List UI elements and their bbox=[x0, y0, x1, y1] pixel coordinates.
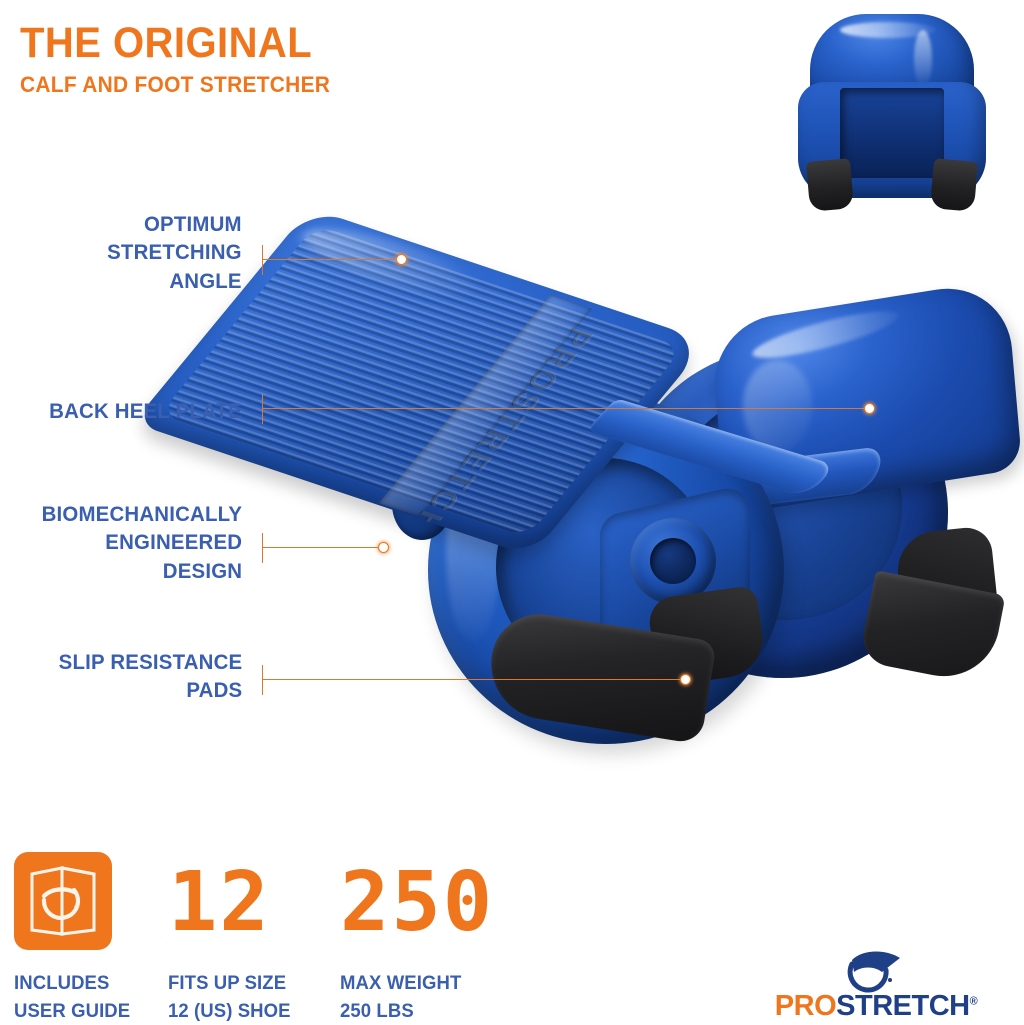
leader-line-optimum-stretching-angle bbox=[262, 259, 402, 260]
brand-logo: PROSTRETCH® bbox=[742, 946, 1010, 1020]
callout-dot-back-heel-plate bbox=[864, 403, 875, 414]
leader-line-biomechanically-engineered-design bbox=[262, 547, 384, 548]
product-main-view: PROSTRETCH bbox=[300, 200, 1000, 770]
stat-value-fits-up-size: 12 bbox=[168, 862, 271, 944]
leader-tick-slip-resistance-pads bbox=[262, 665, 263, 695]
inset-slip-pad-right bbox=[930, 158, 978, 212]
leader-tick-biomechanically-engineered-design bbox=[262, 533, 263, 563]
brand-wordmark: PROSTRETCH® bbox=[742, 990, 1010, 1023]
brand-word-pro: PRO bbox=[775, 990, 836, 1022]
callout-dot-biomechanically-engineered-design bbox=[378, 542, 389, 553]
heel-plate-highlight bbox=[750, 302, 901, 366]
stat-caption-includes-user-guide: INCLUDES USER GUIDE bbox=[14, 970, 130, 1025]
callout-dot-slip-resistance-pads bbox=[680, 674, 691, 685]
leader-tick-optimum-stretching-angle bbox=[262, 245, 263, 275]
callout-label-optimum-stretching-angle: OPTIMUM STRETCHING ANGLE bbox=[107, 210, 242, 295]
brand-word-stretch: STRETCH bbox=[836, 990, 969, 1022]
product-inset-rear-view bbox=[782, 10, 1002, 210]
inset-gloss-side bbox=[914, 30, 932, 88]
callout-dot-optimum-stretching-angle bbox=[396, 254, 407, 265]
stat-value-max-weight: 250 bbox=[340, 862, 494, 944]
callout-label-slip-resistance-pads: SLIP RESISTANCE PADS bbox=[58, 648, 242, 705]
callout-label-back-heel-plate: BACK HEEL PLATE bbox=[49, 397, 242, 425]
stat-caption-fits-up-size: FITS UP SIZE 12 (US) SHOE bbox=[168, 970, 291, 1025]
leader-tick-back-heel-plate bbox=[262, 394, 263, 424]
inset-slip-pad-left bbox=[806, 158, 854, 212]
product-illustration: PROSTRETCH OPTIMUM STRETCHING ANGLE BACK… bbox=[0, 0, 1024, 800]
stat-caption-max-weight: MAX WEIGHT 250 LBS bbox=[340, 970, 461, 1025]
user-guide-booklet-icon bbox=[14, 852, 112, 950]
leader-line-slip-resistance-pads bbox=[262, 679, 686, 680]
inset-opening bbox=[840, 88, 944, 178]
callout-label-biomechanically-engineered-design: BIOMECHANICALLY ENGINEERED DESIGN bbox=[41, 500, 242, 585]
brand-registered-mark: ® bbox=[970, 995, 978, 1007]
leader-line-back-heel-plate bbox=[262, 408, 870, 409]
